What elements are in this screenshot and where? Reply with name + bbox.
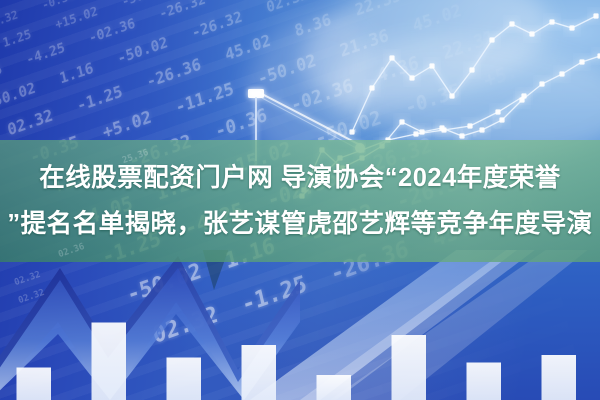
chart-marker (569, 25, 574, 30)
bar-column (392, 335, 427, 400)
chart-marker (559, 71, 564, 76)
chart-marker (441, 127, 446, 132)
bar-column (317, 375, 352, 400)
bar-column (17, 368, 52, 400)
chart-marker (529, 31, 534, 36)
chart-marker (499, 117, 504, 122)
chart-marker (459, 133, 464, 138)
chart-marker (489, 37, 494, 42)
chart-marker (369, 85, 374, 90)
chart-marker (521, 93, 526, 98)
headline-line-1: 在线股票配资门户网 导演协会“2024年度荣誉 (4, 155, 596, 201)
chart-marker (429, 63, 434, 68)
bar-column (242, 345, 277, 400)
bar-column (167, 358, 202, 400)
chart-marker (419, 129, 424, 134)
banner-image: -0.35+5.02-11.25-50.0221.3645.02+1.25-26… (0, 0, 600, 400)
chart-marker (593, 13, 598, 18)
chart-marker (469, 67, 474, 72)
chart-marker (495, 109, 500, 114)
bar-column (92, 323, 127, 400)
chart-marker (389, 55, 394, 60)
chart-marker (479, 127, 484, 132)
chart-marker (449, 93, 454, 98)
chart-marker (413, 131, 418, 136)
bar-column (542, 355, 577, 400)
bar-chart-icon (0, 300, 600, 400)
chart-marker (539, 81, 544, 86)
headline-text-container: 在线股票配资门户网 导演协会“2024年度荣誉 ”提名名单揭晓，张艺谋管虎邵艺辉… (0, 140, 600, 262)
chart-marker (399, 119, 404, 124)
chart-marker (549, 19, 554, 24)
bar-column (467, 363, 502, 400)
chart-marker (579, 59, 584, 64)
chart-marker (467, 123, 472, 128)
chart-marker (409, 75, 414, 80)
headline-line-2: ”提名名单揭晓，张艺谋管虎邵艺辉等竞争年度导演 (4, 201, 596, 247)
chart-marker (509, 21, 514, 26)
